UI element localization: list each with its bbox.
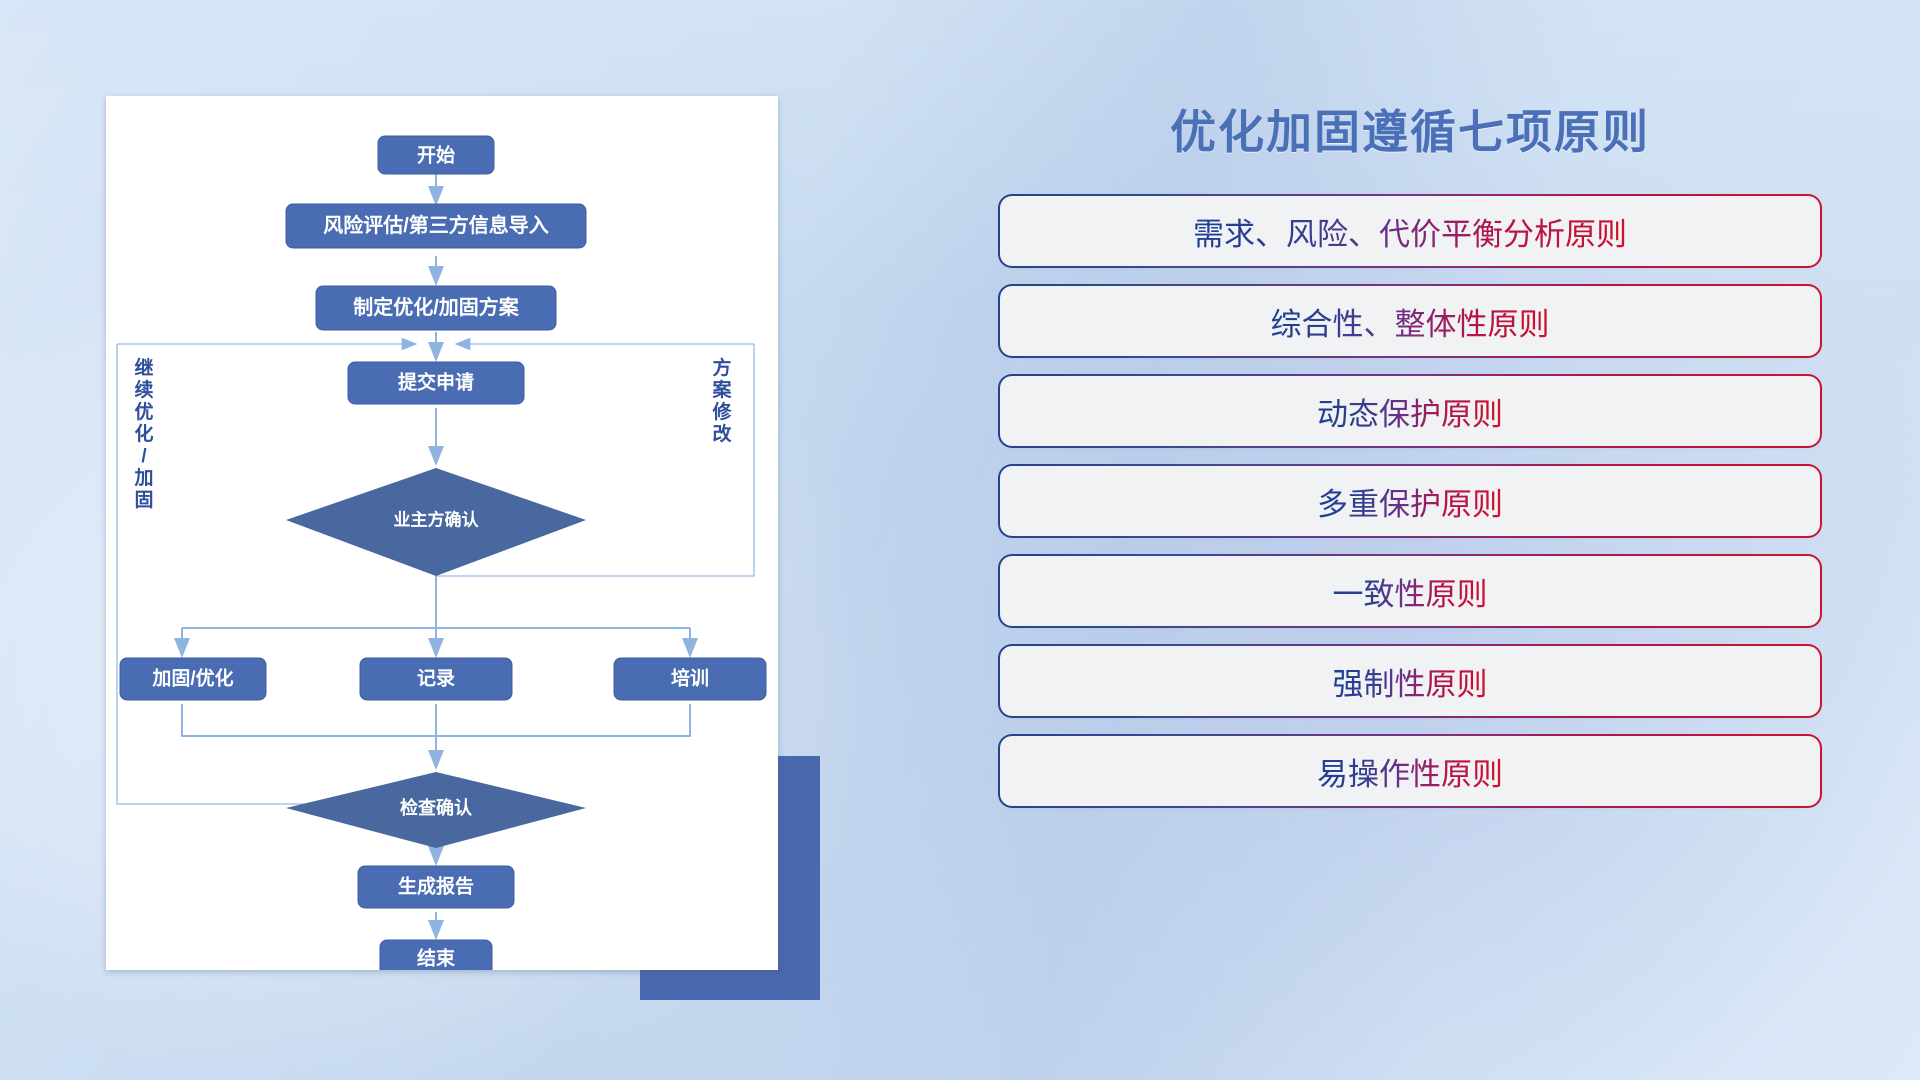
principle-label: 一致性原则 [1333, 569, 1488, 614]
flow-node-reinforce-label: 加固/优化 [151, 667, 233, 690]
flowchart-panel: 开始 风险评估/第三方信息导入 制定优化/加固方案 提交申请 业主方确认 加固/… [106, 96, 778, 970]
flow-node-submit-label: 提交申请 [398, 371, 474, 394]
flow-node-train-label: 培训 [671, 667, 709, 690]
flow-node-start-label: 开始 [417, 144, 455, 167]
flow-node-owner-confirm[interactable]: 业主方确认 [286, 468, 586, 576]
flow-node-plan[interactable]: 制定优化/加固方案 [316, 286, 556, 330]
principle-card-4[interactable]: 多重保护原则 [1000, 466, 1820, 536]
principle-card-3[interactable]: 动态保护原则 [1000, 376, 1820, 446]
flow-node-start[interactable]: 开始 [378, 136, 494, 174]
flow-node-report[interactable]: 生成报告 [358, 866, 514, 908]
flow-node-submit[interactable]: 提交申请 [348, 362, 524, 404]
flow-node-reinforce[interactable]: 加固/优化 [120, 658, 266, 700]
flow-node-report-label: 生成报告 [398, 875, 474, 898]
flow-node-plan-label: 制定优化/加固方案 [353, 295, 520, 319]
flow-node-owner-confirm-label: 业主方确认 [394, 510, 480, 530]
principle-label: 易操作性原则 [1317, 749, 1503, 794]
principle-card-7[interactable]: 易操作性原则 [1000, 736, 1820, 806]
flow-node-end-label: 结束 [417, 947, 456, 970]
principle-label: 需求、风险、代价平衡分析原则 [1193, 209, 1627, 254]
edge-label-right-loop: 方案修改 [711, 356, 732, 445]
principle-card-5[interactable]: 一致性原则 [1000, 556, 1820, 626]
principle-card-6[interactable]: 强制性原则 [1000, 646, 1820, 716]
flow-node-risk-assessment[interactable]: 风险评估/第三方信息导入 [286, 204, 586, 248]
flow-node-check-confirm[interactable]: 检查确认 [286, 772, 586, 848]
principle-card-1[interactable]: 需求、风险、代价平衡分析原则 [1000, 196, 1820, 266]
principle-label: 多重保护原则 [1317, 479, 1503, 524]
principle-label: 强制性原则 [1333, 659, 1488, 704]
flow-node-end[interactable]: 结束 [380, 940, 492, 970]
edge-label-left-loop: 继续优化/加固 [133, 356, 153, 511]
flow-node-record-label: 记录 [417, 668, 455, 690]
principle-card-2[interactable]: 综合性、整体性原则 [1000, 286, 1820, 356]
principle-label: 综合性、整体性原则 [1271, 299, 1550, 344]
principle-label: 动态保护原则 [1317, 389, 1503, 434]
flow-node-risk-assessment-label: 风险评估/第三方信息导入 [323, 213, 549, 237]
flow-node-record[interactable]: 记录 [360, 658, 512, 700]
flowchart-diagram: 开始 风险评估/第三方信息导入 制定优化/加固方案 提交申请 业主方确认 加固/… [106, 96, 778, 970]
principles-title: 优化加固遵循七项原则 [1000, 96, 1820, 162]
flow-node-train[interactable]: 培训 [614, 658, 766, 700]
flow-node-check-confirm-label: 检查确认 [400, 797, 473, 818]
principles-panel: 优化加固遵循七项原则 需求、风险、代价平衡分析原则 综合性、整体性原则 动态保护… [1000, 96, 1820, 996]
